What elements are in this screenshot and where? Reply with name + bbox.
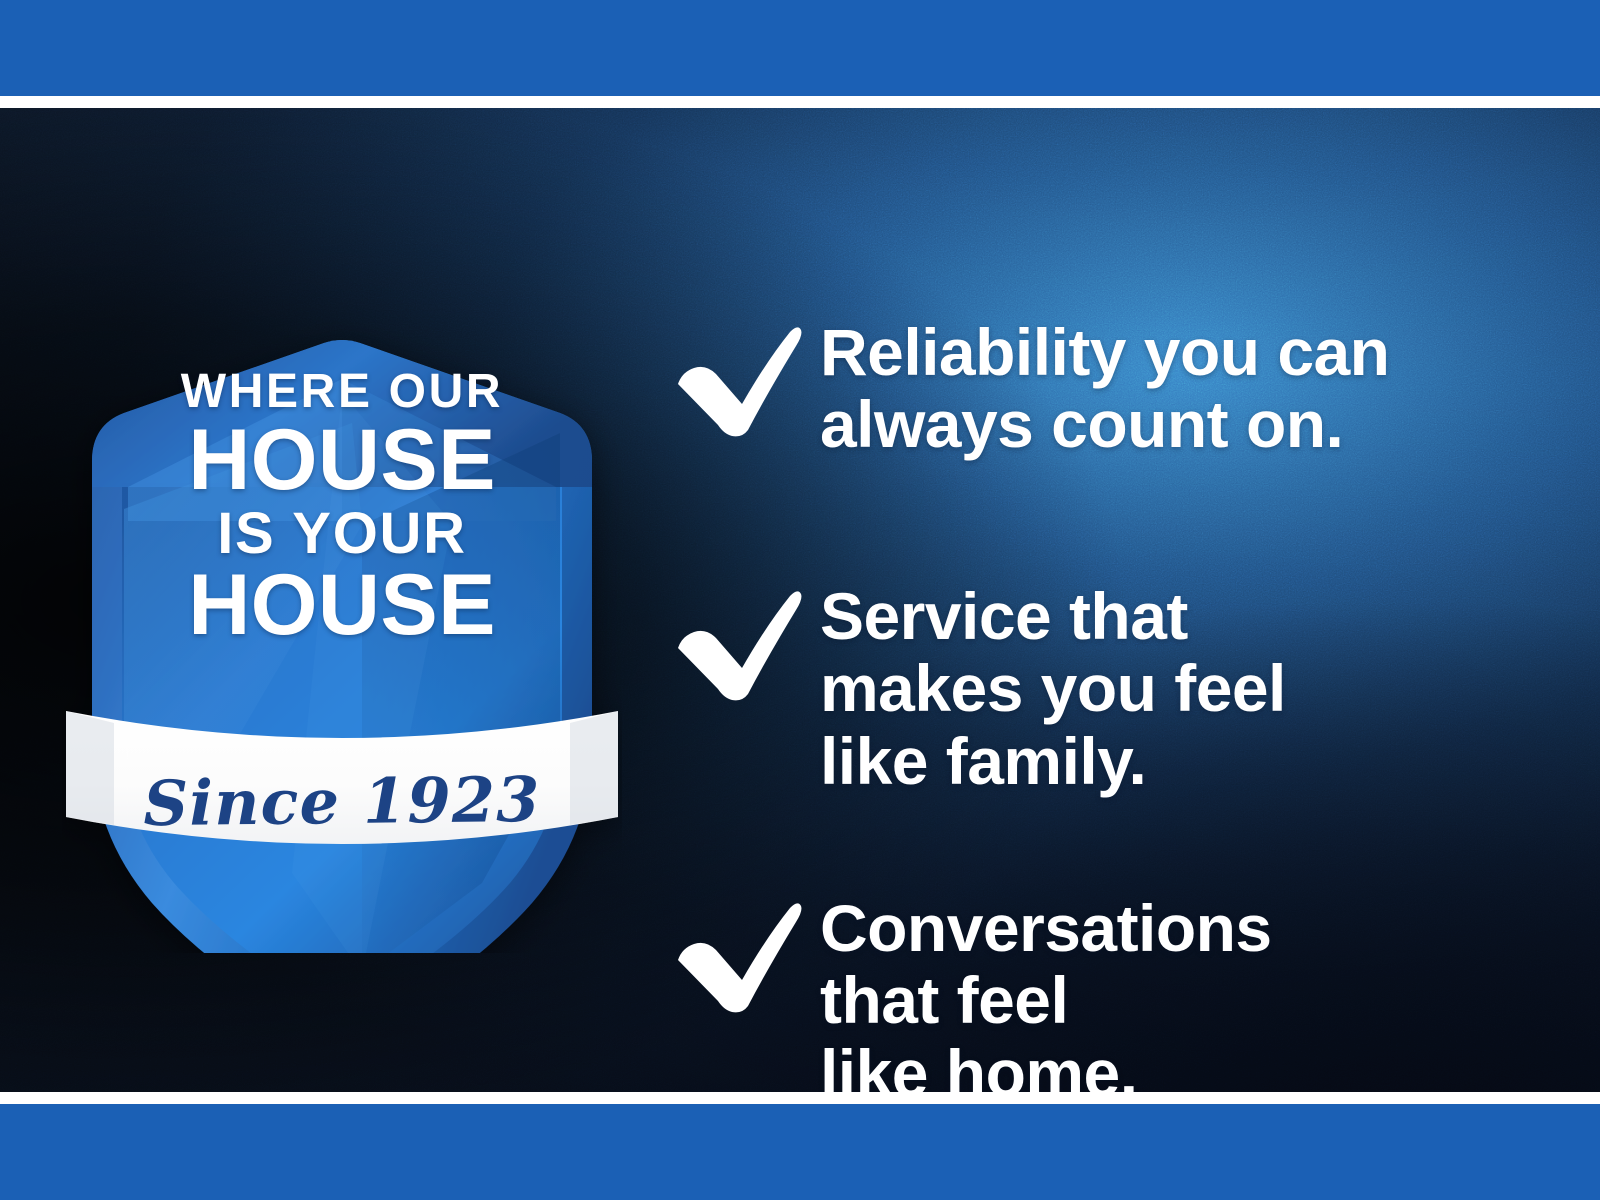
list-item-text: Conversations that feel like home. xyxy=(820,892,1272,1092)
list-item: Service that makes you feel like family. xyxy=(672,580,1286,797)
banner-stage: WHERE OUR HOUSE IS YOUR HOUSE Since 1923… xyxy=(0,108,1600,1092)
bottom-accent-bar xyxy=(0,1104,1600,1200)
list-item: Reliability you can always count on. xyxy=(672,316,1389,461)
list-item-text: Service that makes you feel like family. xyxy=(820,580,1286,797)
shield-badge: WHERE OUR HOUSE IS YOUR HOUSE Since 1923 xyxy=(62,273,622,953)
ribbon-fold-left xyxy=(66,711,114,825)
check-icon xyxy=(672,580,820,702)
shield-badge-graphic xyxy=(62,273,622,953)
list-item-text: Reliability you can always count on. xyxy=(820,316,1389,461)
ribbon-fold-right xyxy=(570,711,618,825)
top-accent-bar xyxy=(0,0,1600,96)
check-icon xyxy=(672,316,820,438)
list-item: Conversations that feel like home. xyxy=(672,892,1272,1092)
promo-banner: WHERE OUR HOUSE IS YOUR HOUSE Since 1923… xyxy=(0,0,1600,1200)
check-icon xyxy=(672,892,820,1014)
